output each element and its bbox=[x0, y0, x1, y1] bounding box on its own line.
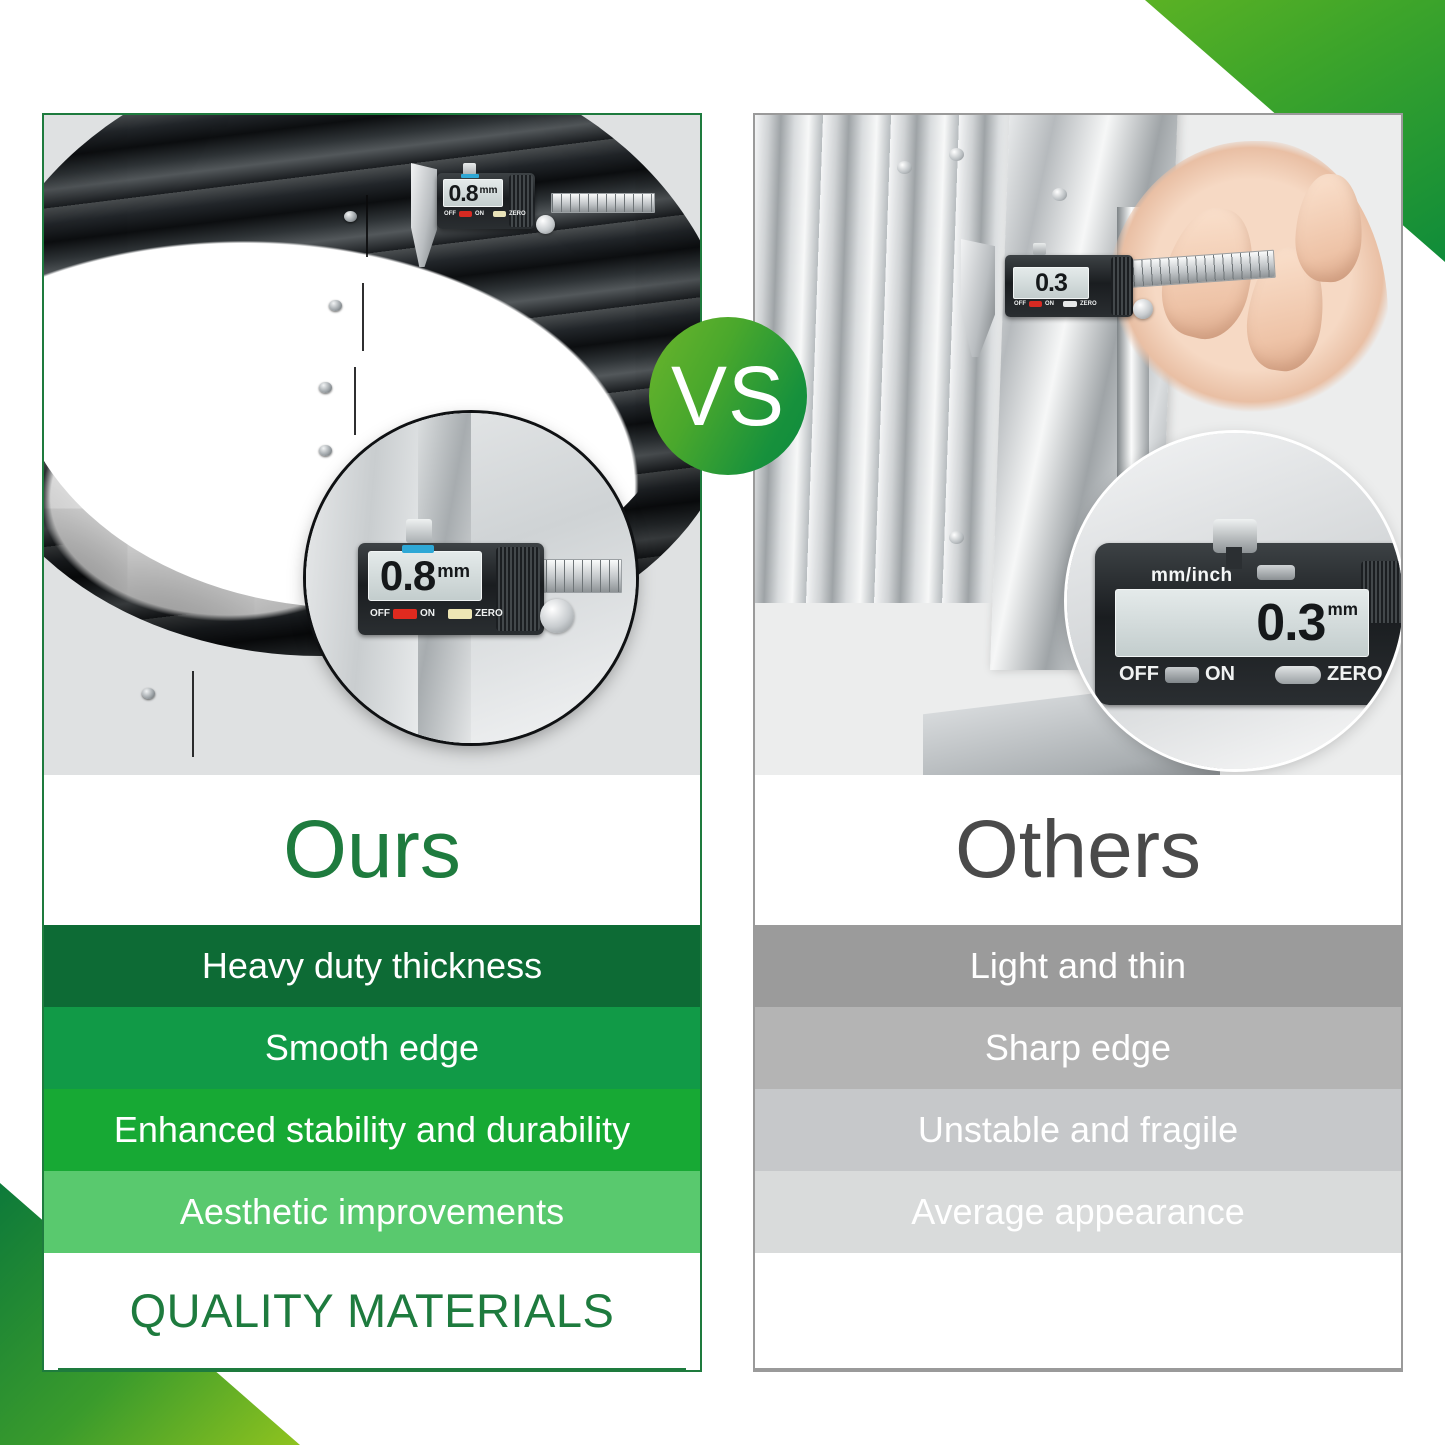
caliper-thumb-wheel bbox=[536, 215, 555, 234]
bolt-icon bbox=[949, 148, 964, 161]
caliper-button-row: OFF ON ZERO bbox=[444, 211, 526, 217]
caliper-zero-label: ZERO bbox=[1327, 663, 1383, 686]
caliper-power-switch bbox=[459, 211, 472, 217]
panel-seam bbox=[192, 671, 194, 757]
digital-caliper-magnified: mm/inch 0.3mm OFF ON ZERO bbox=[1085, 521, 1401, 711]
others-card: 0.3 OFF ON ZERO bbox=[753, 113, 1403, 1372]
rivet-icon bbox=[319, 382, 332, 393]
feature-label: Enhanced stability and durability bbox=[114, 1109, 630, 1151]
caliper-knurl-grip bbox=[509, 175, 533, 227]
rivet-icon bbox=[142, 688, 155, 699]
others-feature-row: Unstable and fragile bbox=[755, 1089, 1401, 1171]
caliper-reading: 0.3 bbox=[1256, 593, 1325, 653]
caliper-jaw bbox=[411, 163, 437, 267]
others-feature-list: Light and thin Sharp edge Unstable and f… bbox=[755, 925, 1401, 1253]
panel-seam bbox=[362, 283, 364, 351]
vs-label: VS bbox=[671, 354, 785, 438]
ours-feature-row: Heavy duty thickness bbox=[44, 925, 700, 1007]
ours-footer-note: QUALITY MATERIALS bbox=[44, 1253, 700, 1368]
caliper-lcd-display: 0.8mm bbox=[443, 179, 503, 207]
caliper-mode-button bbox=[1257, 565, 1295, 580]
caliper-blue-indicator bbox=[461, 174, 479, 178]
caliper-button-row: OFF ON ZERO bbox=[370, 608, 503, 619]
feature-label: Unstable and fragile bbox=[918, 1109, 1238, 1151]
rivet-icon bbox=[344, 211, 357, 222]
caliper-lcd-display: 0.8mm bbox=[368, 551, 482, 601]
caliper-power-switch bbox=[1165, 667, 1199, 683]
others-footer-blank bbox=[755, 1253, 1401, 1368]
caliper-on-label: ON bbox=[1205, 663, 1235, 686]
caliper-off-label: OFF bbox=[370, 608, 390, 619]
digital-caliper-small: 0.8mm OFF ON ZERO bbox=[401, 157, 651, 267]
caliper-lock-screw bbox=[1033, 243, 1046, 255]
feature-label: Sharp edge bbox=[985, 1027, 1171, 1069]
ours-feature-row: Smooth edge bbox=[44, 1007, 700, 1089]
caliper-off-label: OFF bbox=[1014, 301, 1026, 307]
caliper-on-label: ON bbox=[1045, 301, 1054, 307]
caliper-unit: mm bbox=[1327, 599, 1358, 620]
feature-label: Average appearance bbox=[911, 1191, 1245, 1233]
vs-badge: VS bbox=[649, 317, 807, 475]
rivet-icon bbox=[329, 300, 342, 311]
ours-feature-row: Enhanced stability and durability bbox=[44, 1089, 700, 1171]
caliper-button-row: OFF ON ZERO bbox=[1119, 663, 1383, 686]
caliper-thumb-wheel bbox=[540, 599, 574, 633]
caliper-mode-label: mm/inch bbox=[1151, 565, 1233, 587]
ours-magnifier-inset: 0.8mm OFF ON ZERO bbox=[306, 413, 636, 743]
others-product-photo: 0.3 OFF ON ZERO bbox=[755, 115, 1401, 775]
digital-caliper-small: 0.3 OFF ON ZERO bbox=[961, 237, 1281, 347]
bolt-icon bbox=[1052, 188, 1067, 201]
caliper-power-switch bbox=[1029, 301, 1042, 307]
ours-card: 0.8mm OFF ON ZERO bbox=[42, 113, 702, 1372]
caliper-blue-indicator bbox=[402, 545, 434, 553]
ours-feature-list: Heavy duty thickness Smooth edge Enhance… bbox=[44, 925, 700, 1253]
caliper-reading: 0.3 bbox=[1035, 269, 1067, 298]
caliper-jaw bbox=[961, 239, 995, 357]
caliper-off-label: OFF bbox=[1119, 663, 1159, 686]
ours-feature-row: Aesthetic improvements bbox=[44, 1171, 700, 1253]
caliper-button-row: OFF ON ZERO bbox=[1014, 301, 1097, 307]
feature-label: Heavy duty thickness bbox=[202, 945, 542, 987]
ours-footer-divider bbox=[58, 1368, 686, 1370]
others-feature-row: Average appearance bbox=[755, 1171, 1401, 1253]
caliper-zero-button bbox=[448, 609, 472, 619]
caliper-thumb-wheel bbox=[1133, 299, 1153, 319]
caliper-zero-button bbox=[493, 211, 506, 217]
caliper-zero-button bbox=[1275, 666, 1321, 684]
bolt-icon bbox=[949, 531, 964, 544]
caliper-scale-bar bbox=[536, 559, 622, 593]
caliper-unit: mm bbox=[437, 560, 470, 582]
caliper-lcd-display: 0.3mm bbox=[1115, 589, 1369, 657]
caliper-scale-bar bbox=[551, 193, 655, 213]
ours-title: Ours bbox=[44, 775, 700, 925]
caliper-unit: mm bbox=[480, 185, 498, 196]
others-feature-row: Light and thin bbox=[755, 925, 1401, 1007]
others-title: Others bbox=[755, 775, 1401, 925]
caliper-zero-label: ZERO bbox=[509, 211, 526, 217]
ours-product-photo: 0.8mm OFF ON ZERO bbox=[44, 115, 700, 775]
comparison-infographic: 0.8mm OFF ON ZERO bbox=[0, 0, 1445, 1445]
feature-label: Light and thin bbox=[970, 945, 1186, 987]
caliper-knurl-grip bbox=[1111, 257, 1133, 315]
caliper-on-label: ON bbox=[475, 211, 484, 217]
caliper-reading: 0.8 bbox=[380, 552, 435, 600]
others-magnifier-inset: mm/inch 0.3mm OFF ON ZERO bbox=[1067, 433, 1401, 769]
caliper-scale-bar bbox=[1122, 250, 1276, 289]
caliper-reading: 0.8 bbox=[449, 180, 478, 207]
feature-label: Smooth edge bbox=[265, 1027, 479, 1069]
others-footer-divider bbox=[755, 1368, 1401, 1370]
panel-seam bbox=[366, 195, 368, 257]
others-feature-row: Sharp edge bbox=[755, 1007, 1401, 1089]
caliper-lock-screw bbox=[406, 519, 432, 543]
caliper-zero-label: ZERO bbox=[475, 608, 503, 619]
digital-caliper-magnified: 0.8mm OFF ON ZERO bbox=[340, 513, 620, 663]
caliper-power-switch bbox=[393, 609, 417, 619]
feature-label: Aesthetic improvements bbox=[180, 1191, 564, 1233]
caliper-zero-button bbox=[1063, 301, 1077, 307]
caliper-zero-label: ZERO bbox=[1080, 301, 1097, 307]
caliper-off-label: OFF bbox=[444, 211, 456, 217]
caliper-lcd-display: 0.3 bbox=[1013, 267, 1089, 299]
caliper-on-label: ON bbox=[420, 608, 435, 619]
